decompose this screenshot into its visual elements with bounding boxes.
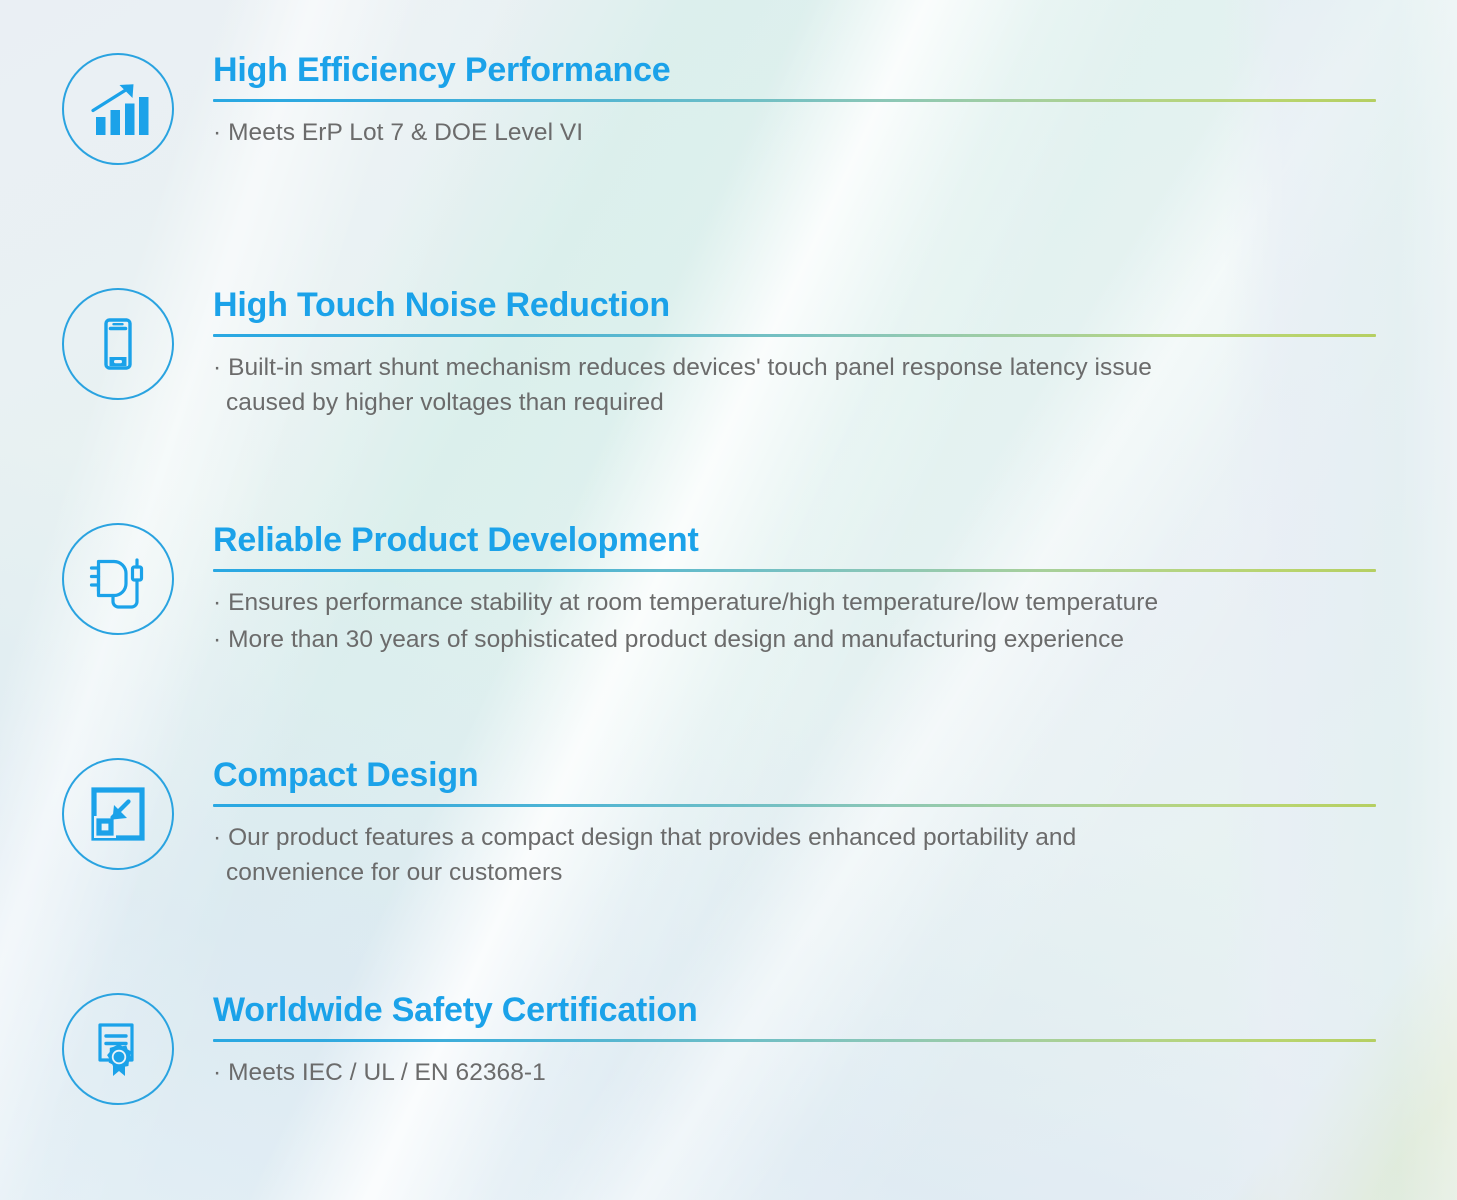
feature-icon-wrap	[62, 53, 174, 165]
feature-body: High Efficiency Performance · Meets ErP …	[213, 53, 1376, 151]
feature-icon-wrap	[62, 758, 174, 870]
feature-title: Compact Design	[213, 758, 1376, 792]
feature-divider	[213, 569, 1376, 572]
feature-icon-wrap	[62, 993, 174, 1105]
feature-bullets: · Built-in smart shunt mechanism reduces…	[213, 351, 1376, 421]
compress-resize-icon	[62, 758, 174, 870]
feature-bullets: · Our product features a compact design …	[213, 821, 1376, 891]
feature-title: Worldwide Safety Certification	[213, 993, 1376, 1027]
feature-bullet: · Meets IEC / UL / EN 62368-1	[213, 1056, 1376, 1091]
feature-body: Worldwide Safety Certification · Meets I…	[213, 993, 1376, 1091]
feature-title: High Efficiency Performance	[213, 53, 1376, 87]
feature-icon-wrap	[62, 523, 174, 635]
feature-bullet: · Meets ErP Lot 7 & DOE Level VI	[213, 116, 1376, 151]
feature-bullets: · Ensures performance stability at room …	[213, 586, 1376, 658]
feature-divider	[213, 1039, 1376, 1042]
feature-bullet: · Ensures performance stability at room …	[213, 586, 1376, 621]
feature-body: Reliable Product Development · Ensures p…	[213, 523, 1376, 658]
certificate-seal-icon	[62, 993, 174, 1105]
feature-bullets: · Meets ErP Lot 7 & DOE Level VI	[213, 116, 1376, 151]
feature-title: Reliable Product Development	[213, 523, 1376, 557]
feature-bullets: · Meets IEC / UL / EN 62368-1	[213, 1056, 1376, 1091]
feature-icon-wrap	[62, 288, 174, 400]
features-list: High Efficiency Performance · Meets ErP …	[0, 0, 1457, 1200]
bar-chart-growth-icon	[62, 53, 174, 165]
feature-divider	[213, 334, 1376, 337]
feature-body: High Touch Noise Reduction · Built-in sm…	[213, 288, 1376, 421]
feature-divider	[213, 99, 1376, 102]
smartphone-icon	[62, 288, 174, 400]
feature-highlights-page: High Efficiency Performance · Meets ErP …	[0, 0, 1457, 1200]
feature-bullet: · More than 30 years of sophisticated pr…	[213, 623, 1376, 658]
feature-bullet: · Our product features a compact design …	[213, 821, 1376, 891]
feature-body: Compact Design · Our product features a …	[213, 758, 1376, 891]
feature-bullet: · Built-in smart shunt mechanism reduces…	[213, 351, 1376, 421]
power-adapter-icon	[62, 523, 174, 635]
feature-divider	[213, 804, 1376, 807]
feature-title: High Touch Noise Reduction	[213, 288, 1376, 322]
